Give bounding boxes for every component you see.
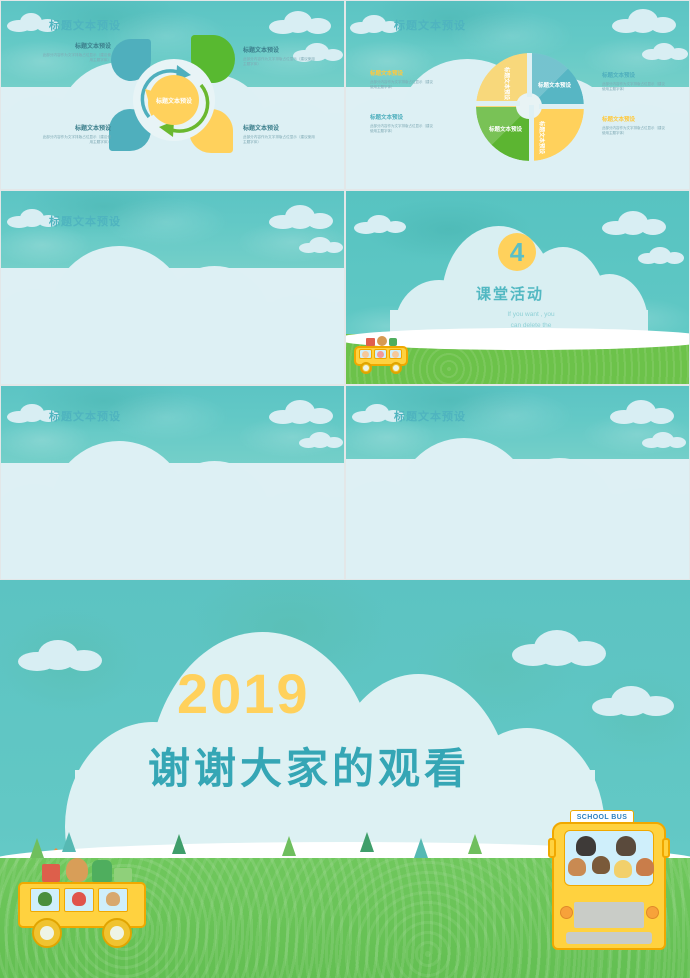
section-number: 4 (498, 233, 536, 271)
bus-bumper (566, 932, 652, 944)
school-bus-illustration (352, 334, 414, 374)
pie-legend-2: 标题文本预设 此部分内容作为文字排版占位显示（建议使用主题字体） (602, 71, 668, 92)
tree-3 (172, 834, 186, 854)
slide-three-cards[interactable]: 标题文本预设 点击添加标题 您的内容打在这里，或者通过复制您的文本后，在此框中选… (345, 385, 690, 580)
pie-legend-3-body: 此部分内容作为文字排版占位显示（建议使用主题字体） (602, 126, 668, 136)
slide-four-badges[interactable]: 标题文本预设 标题文本预设 此部分内容作为文字排版占位显示（建议使用主题字体） … (0, 190, 345, 385)
decor-cloud-top-right (610, 400, 674, 424)
bus-kid-1 (576, 836, 596, 856)
bus-mirror-left (548, 838, 556, 858)
decor-cloud-right (642, 43, 688, 60)
pie-legend-0-title: 标题文本预设 (370, 69, 436, 77)
pie-legend-0: 标题文本预设 此部分内容作为文字排版占位显示（建议使用主题字体） (370, 69, 436, 90)
slide-7-canvas: 2019 谢谢大家的观看 (0, 580, 690, 978)
decor-cloud-left (18, 640, 102, 670)
bus-kid-3 (568, 858, 586, 876)
pie-slice-2-label: 标题文本预设 (489, 125, 522, 133)
cloud-shape (346, 425, 689, 579)
pie-legend-0-body: 此部分内容作为文字排版占位显示（建议使用主题字体） (370, 80, 436, 90)
slide-thank-you[interactable]: 2019 谢谢大家的观看 (0, 580, 690, 978)
slide-1-canvas: 标题文本预设 标题文本预设 标题文本预设 此部分内容作为文字排版占位显 (1, 1, 344, 189)
slide-3-canvas: 标题文本预设 标题文本预设 此部分内容作为文字排版占位显示（建议使用主题字体） … (1, 191, 344, 384)
bus-kid-2 (72, 892, 86, 906)
closing-year: 2019 (177, 666, 310, 722)
bus-headlight-right (646, 906, 659, 919)
slide-deck-preview: 标题文本预设 标题文本预设 标题文本预设 此部分内容作为文字排版占位显 (0, 0, 690, 978)
cloud-shape (1, 233, 344, 384)
pie-legend-1: 标题文本预设 此部分内容作为文字排版占位显示（建议使用主题字体） (370, 113, 436, 134)
decor-cloud-left (354, 215, 406, 233)
slide-6-canvas: 标题文本预设 点击添加标题 您的内容打在这里，或者通过复制您的文本后，在此框中选… (346, 386, 689, 579)
pie-legend-2-body: 此部分内容作为文字排版占位显示（建议使用主题字体） (602, 82, 668, 92)
decor-cloud-top-right (269, 400, 333, 424)
cycle-item-0-body: 此部分内容作为文字排版占位显示（建议使用主题字体） (41, 53, 111, 63)
pie-slice-0-label: 标题文本预设 (538, 81, 571, 89)
cycle-item-3-body: 此部分内容作为文字排版占位显示（建议使用主题字体） (243, 135, 315, 145)
bus-roof-luggage (42, 864, 60, 882)
slide-title: 标题文本预设 (49, 408, 121, 424)
cycle-item-0-title: 标题文本预设 (41, 41, 111, 50)
cycle-item-3-title: 标题文本预设 (243, 123, 315, 132)
decor-cloud-right (299, 237, 343, 253)
slide-pie-chart[interactable]: 标题文本预设 标题文本预设 标题文本预设 标题文本预设 标题文本预设 标题文本预… (345, 0, 690, 190)
bus-roof-plant (92, 860, 112, 882)
section-title-cn: 课堂活动 (476, 283, 544, 304)
decor-cloud-left (350, 15, 400, 33)
pie-legend-1-title: 标题文本预设 (370, 113, 436, 121)
cycle-item-1-body: 此部分内容作为文字排版占位显示（建议使用主题字体） (243, 57, 315, 67)
cycle-item-2-body: 此部分内容作为文字排版占位显示（建议使用主题字体） (41, 135, 111, 145)
decor-cloud-top-right (612, 9, 676, 33)
decor-cloud-top-right (269, 11, 331, 33)
slide-section-cover[interactable]: 4 课堂活动 If you want , you can delete the … (345, 190, 690, 385)
slide-cycle-diagram[interactable]: 标题文本预设 标题文本预设 标题文本预设 此部分内容作为文字排版占位显 (0, 0, 345, 190)
school-bus-side (14, 856, 164, 952)
cloud-shape (1, 428, 344, 579)
cycle-item-1: 标题文本预设 此部分内容作为文字排版占位显示（建议使用主题字体） (243, 45, 315, 67)
tree-4 (282, 836, 296, 856)
bus-kid-1 (38, 892, 52, 906)
slide-leaf-icons[interactable]: 标题文本预设 标题文本预设 此部分内容作为文字排版占位显示（建议使用主题字体） … (0, 385, 345, 580)
slide-title: 标题文本预设 (49, 17, 121, 33)
bus-roof-bear (66, 858, 88, 882)
tree-5 (360, 832, 374, 852)
cycle-item-0: 标题文本预设 此部分内容作为文字排版占位显示（建议使用主题字体） (41, 41, 111, 63)
decor-cloud-top-right (269, 205, 333, 229)
bus-kid-6 (636, 858, 654, 876)
bus-kid-1 (362, 351, 369, 358)
tree-7 (468, 834, 482, 854)
bus-headlight-left (560, 906, 573, 919)
bus-kid-4 (592, 856, 610, 874)
section-en-line-0: If you want , you (486, 309, 576, 320)
slide-title: 标题文本预设 (49, 213, 121, 229)
pie-legend-1-body: 此部分内容作为文字排版占位显示（建议使用主题字体） (370, 124, 436, 134)
bus-kid-5 (614, 860, 632, 878)
decor-cloud-right (592, 686, 674, 716)
tree-2 (62, 832, 76, 852)
cycle-item-1-title: 标题文本预设 (243, 45, 315, 54)
bus-roof-bear (377, 336, 387, 346)
slide-title: 标题文本预设 (394, 17, 466, 33)
pie-legend-3-title: 标题文本预设 (602, 115, 668, 123)
decor-cloud-top-right (512, 630, 606, 666)
slide-2-canvas: 标题文本预设 标题文本预设 标题文本预设 标题文本预设 标题文本预设 标题文本预… (346, 1, 689, 189)
pie-slice-3-label: 标题文本预设 (503, 67, 511, 100)
cycle-item-2: 标题文本预设 此部分内容作为文字排版占位显示（建议使用主题字体） (41, 123, 111, 145)
pie-slice-1-label: 标题文本预设 (538, 121, 546, 154)
bus-roof-luggage (366, 338, 375, 346)
slide-5-canvas: 标题文本预设 标题文本预设 此部分内容作为文字排版占位显示（建议使用主题字体） … (1, 386, 344, 579)
bus-kid-2 (616, 836, 636, 856)
slide-title: 标题文本预设 (394, 408, 466, 424)
bus-roof-plant (389, 338, 397, 346)
bus-grille (574, 902, 644, 928)
slide-4-canvas: 4 课堂活动 If you want , you can delete the … (346, 191, 689, 384)
pie-legend-3: 标题文本预设 此部分内容作为文字排版占位显示（建议使用主题字体） (602, 115, 668, 136)
decor-cloud-top-right (602, 211, 666, 235)
decor-cloud-right (642, 432, 686, 448)
bus-kid-3 (106, 892, 120, 906)
decor-cloud-right (299, 432, 343, 448)
bus-kid-2 (377, 351, 384, 358)
bus-mirror-right (662, 838, 670, 858)
decor-cloud-right (638, 247, 684, 264)
pie-legend-2-title: 标题文本预设 (602, 71, 668, 79)
closing-thanks: 谢谢大家的观看 (148, 748, 470, 790)
bus-kid-3 (392, 351, 399, 358)
cycle-center-label: 标题文本预设 (149, 75, 199, 125)
cycle-item-2-title: 标题文本预设 (41, 123, 111, 132)
bus-roof-box (114, 868, 132, 882)
tree-1 (30, 838, 44, 858)
tree-6 (414, 838, 428, 858)
cycle-item-3: 标题文本预设 此部分内容作为文字排版占位显示（建议使用主题字体） (243, 123, 315, 145)
school-bus-front: SCHOOL BUS (548, 810, 688, 970)
